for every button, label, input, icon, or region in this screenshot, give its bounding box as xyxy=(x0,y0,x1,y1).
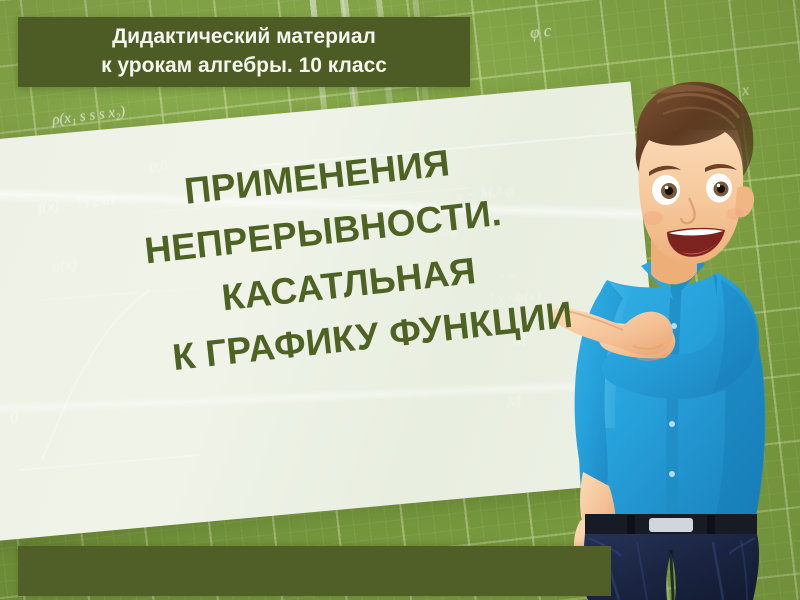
slide-canvas: ρ(x₁ s s s x₂)φ с0,0f(x) = ¹⁄√2πσφ(x)x −… xyxy=(0,0,800,600)
bottom-accent-bar xyxy=(18,546,611,596)
banner-line-1: Дидактический материал xyxy=(112,23,376,52)
subject-banner: Дидактический материал к урокам алгебры.… xyxy=(18,17,470,87)
banner-line-2: к урокам алгебры. 10 класс xyxy=(101,52,387,81)
